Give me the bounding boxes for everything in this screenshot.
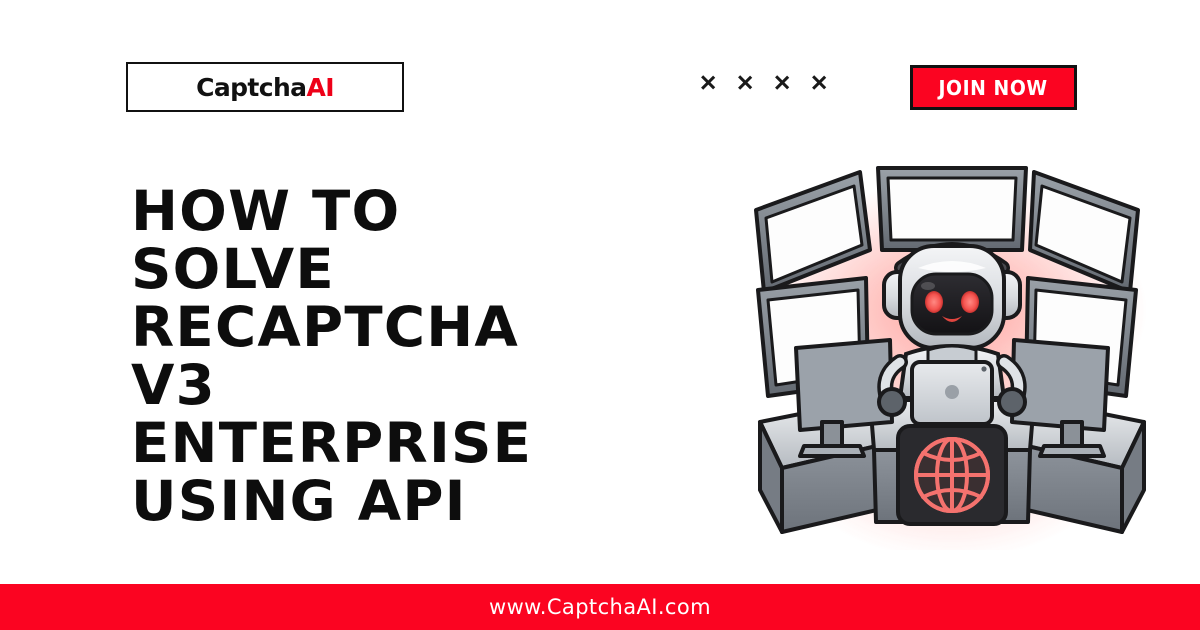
social-icon-broken-4[interactable] xyxy=(811,74,827,90)
poster-canvas: CaptchaAI JOIN NOW HOW TO SOLVE RECAPTCH… xyxy=(0,0,1200,630)
logo-captchaai[interactable]: CaptchaAI xyxy=(126,62,404,112)
footer-bar: www.CaptchaAI.com xyxy=(0,584,1200,630)
logo-text-primary: Captcha xyxy=(196,73,306,102)
join-now-button[interactable]: JOIN NOW xyxy=(910,65,1077,110)
header: CaptchaAI JOIN NOW xyxy=(0,0,1200,150)
logo-text: CaptchaAI xyxy=(196,75,334,100)
logo-text-accent: AI xyxy=(306,73,333,102)
robot-eye-right xyxy=(961,291,979,313)
join-now-button-label: JOIN NOW xyxy=(939,76,1048,100)
social-icon-row xyxy=(700,74,827,90)
robot-hand-left xyxy=(879,389,905,415)
headline-line-2: SOLVE xyxy=(131,240,753,298)
globe-panel xyxy=(898,426,1006,524)
headline-line-3: RECAPTCHA xyxy=(131,298,753,356)
headline-line-6: USING API xyxy=(131,472,753,530)
social-icon-broken-1[interactable] xyxy=(700,74,716,90)
footer-website-url[interactable]: www.CaptchaAI.com xyxy=(489,595,711,619)
monitor-top-center xyxy=(878,168,1026,250)
social-icon-broken-2[interactable] xyxy=(737,74,753,90)
headline-line-5: ENTERPRISE xyxy=(131,414,753,472)
headline-line-4: V3 xyxy=(131,356,753,414)
page-title: HOW TO SOLVE RECAPTCHA V3 ENTERPRISE USI… xyxy=(131,182,741,530)
robot-hand-right xyxy=(999,389,1025,415)
robot-eye-left xyxy=(925,291,943,313)
social-icon-broken-3[interactable] xyxy=(774,74,790,90)
globe-icon xyxy=(916,439,988,511)
robot-workstation-illustration xyxy=(742,150,1162,550)
headline-line-1: HOW TO xyxy=(131,182,753,240)
